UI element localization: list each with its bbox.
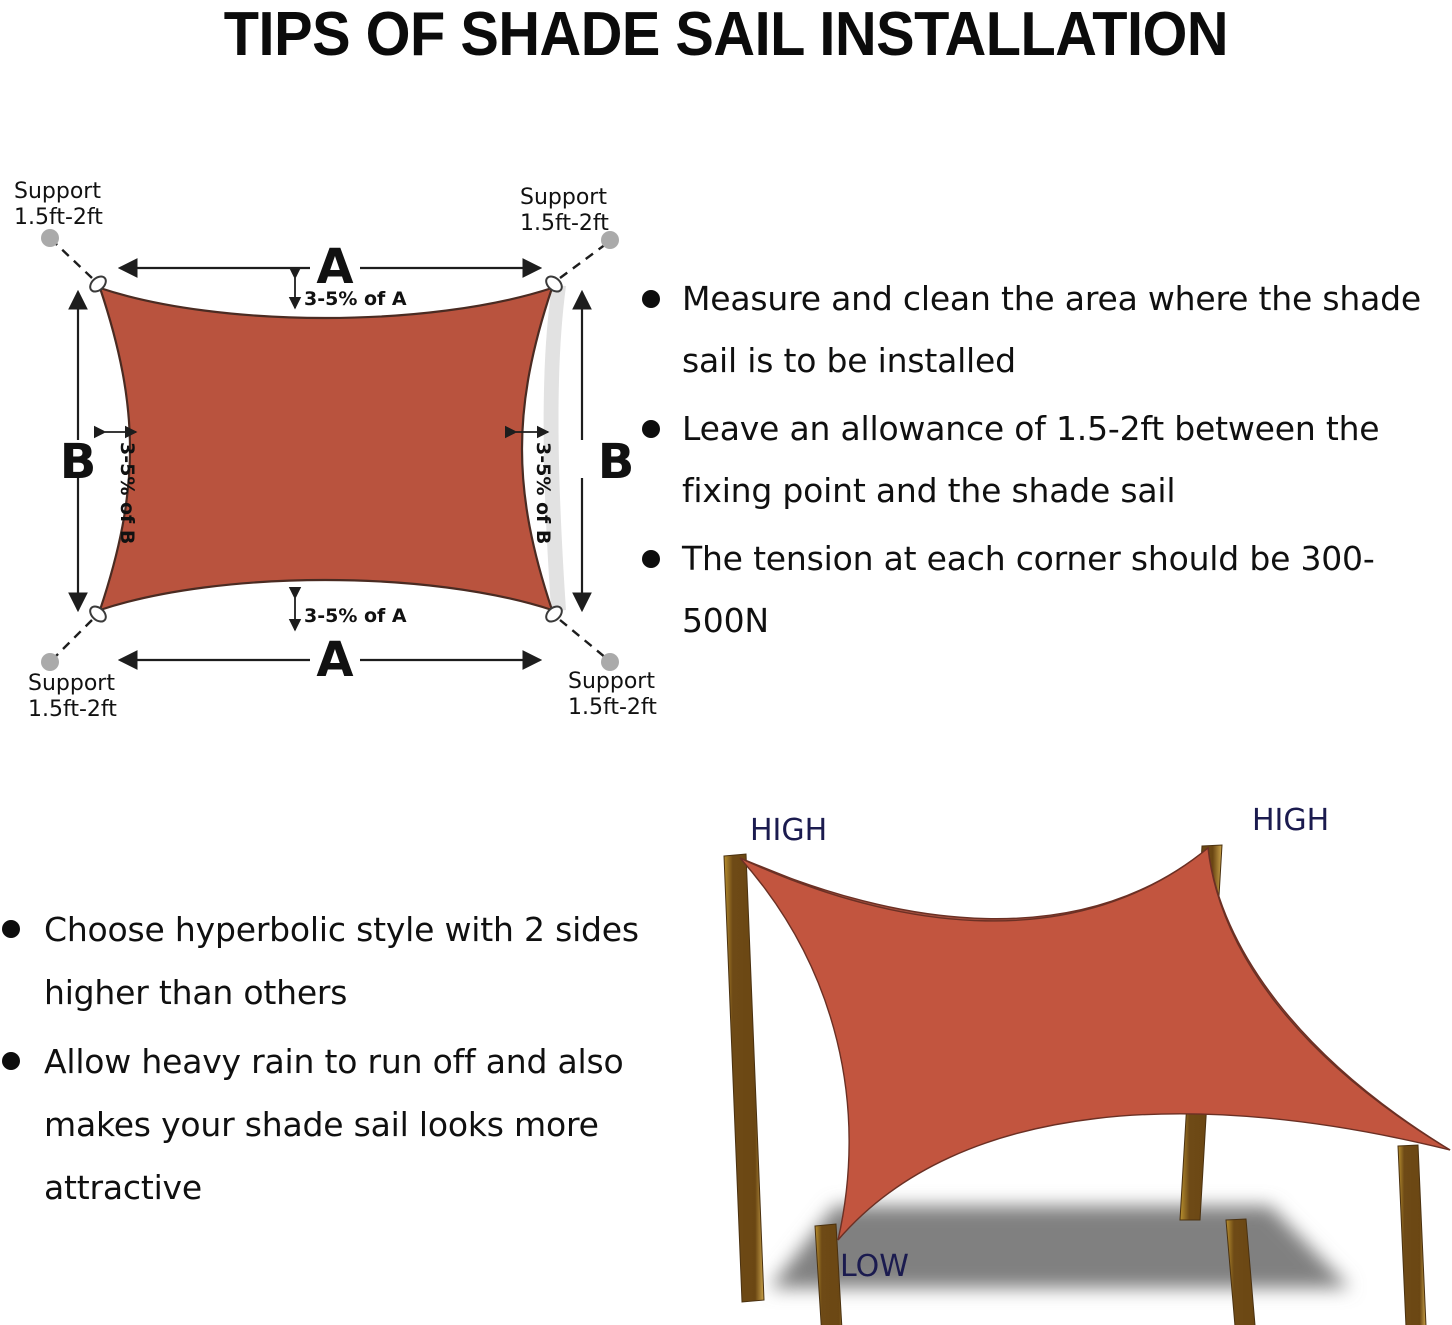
list-item: The tension at each corner should be 300…: [640, 528, 1452, 652]
curve-note-top-label: 3-5% of A: [304, 288, 407, 310]
support-label-tr-line1: Support: [520, 185, 607, 210]
tip-text: Leave an allowance of 1.5-2ft between th…: [682, 409, 1379, 510]
list-item: Leave an allowance of 1.5-2ft between th…: [640, 398, 1452, 522]
page-title: TIPS OF SHADE SAIL INSTALLATION: [224, 0, 1228, 70]
bullet-icon: [642, 550, 660, 568]
tip-text: Choose hyperbolic style with 2 sides hig…: [44, 910, 639, 1012]
dimension-top-A: A: [120, 239, 540, 295]
list-item: Measure and clean the area where the sha…: [640, 268, 1452, 392]
support-label-tr-line2: 1.5ft-2ft: [520, 211, 609, 236]
curve-note-left: 3-5% of B: [105, 432, 138, 544]
post-high-left: [724, 854, 764, 1302]
dimension-label-left-B: B: [60, 434, 97, 490]
support-label-tl-line1: Support: [14, 179, 101, 204]
rectangular-sail-svg: Support 1.5ft-2ft Support 1.5ft-2ft Supp…: [0, 160, 660, 740]
curve-note-right-label: 3-5% of B: [532, 442, 554, 544]
curve-note-bottom: 3-5% of A: [295, 598, 407, 630]
list-item: Allow heavy rain to run off and also mak…: [0, 1030, 640, 1219]
curve-note-bottom-label: 3-5% of A: [304, 605, 407, 627]
support-label-br-line2: 1.5ft-2ft: [568, 695, 657, 720]
page-title-bar: TIPS OF SHADE SAIL INSTALLATION: [0, 0, 1452, 70]
installation-tips-list: Measure and clean the area where the sha…: [640, 268, 1452, 652]
tip-text: Measure and clean the area where the sha…: [682, 279, 1421, 380]
dimension-label-right-B: B: [598, 434, 635, 490]
bullet-icon: [642, 290, 660, 308]
label-low-left: LOW: [840, 1249, 909, 1284]
bullet-icon: [642, 420, 660, 438]
hyperbolic-sail-panel: HIGH HIGH LOW LOW: [660, 788, 1452, 1325]
dimension-left-B: B: [60, 292, 97, 610]
hyperbolic-tips-list: Choose hyperbolic style with 2 sides hig…: [0, 898, 640, 1219]
dimension-right-B: B: [582, 292, 634, 610]
sail-sheet-front: [740, 848, 1450, 1240]
shade-sail-shape: [100, 288, 552, 610]
list-item: Choose hyperbolic style with 2 sides hig…: [0, 898, 640, 1024]
dimension-bottom-A: A: [120, 632, 540, 688]
tip-text: The tension at each corner should be 300…: [682, 539, 1375, 640]
bullet-icon: [2, 1052, 20, 1070]
label-high-right: HIGH: [1252, 803, 1329, 838]
support-label-br-line1: Support: [568, 669, 655, 694]
post-low-right: [1398, 1145, 1426, 1325]
support-label-tl-line2: 1.5ft-2ft: [14, 205, 103, 230]
dimension-label-bottom-A: A: [316, 632, 353, 688]
curve-note-left-label: 3-5% of B: [116, 442, 138, 544]
installation-tips-panel: Measure and clean the area where the sha…: [640, 268, 1452, 668]
dimension-label-top-A: A: [316, 239, 353, 295]
hyperbolic-sail-svg: HIGH HIGH LOW LOW: [660, 788, 1452, 1325]
rectangular-sail-diagram-panel: Support 1.5ft-2ft Support 1.5ft-2ft Supp…: [0, 160, 660, 740]
tip-text: Allow heavy rain to run off and also mak…: [44, 1042, 624, 1207]
hyperbolic-tips-panel: Choose hyperbolic style with 2 sides hig…: [0, 898, 640, 1238]
label-high-left: HIGH: [750, 813, 827, 848]
support-label-bl-line2: 1.5ft-2ft: [28, 697, 117, 722]
bullet-icon: [2, 920, 20, 938]
support-label-bl-line1: Support: [28, 671, 115, 696]
